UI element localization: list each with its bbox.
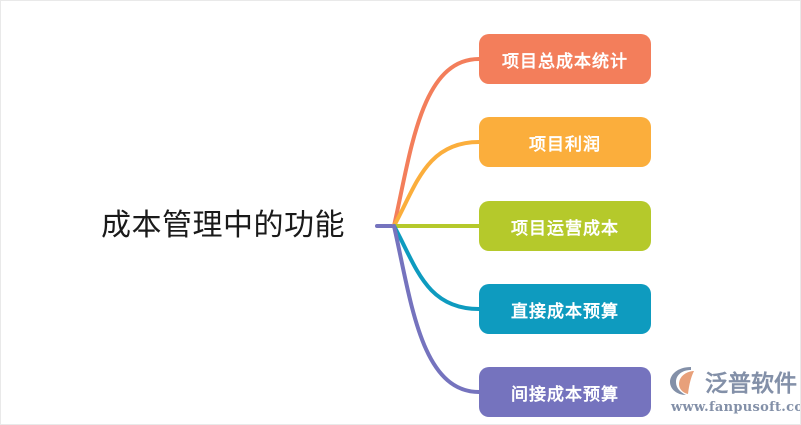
watermark-brand: 泛普软件	[705, 364, 797, 398]
branch-node-4-label: 直接成本预算	[511, 297, 619, 322]
watermark: 泛普软件 www.fanpusoft.com	[669, 363, 797, 421]
branch-node-5[interactable]: 间接成本预算	[479, 367, 651, 417]
fanpusoft-logo-icon	[669, 365, 703, 397]
root-node-label: 成本管理中的功能	[101, 203, 381, 249]
branch-node-5-label: 间接成本预算	[511, 380, 619, 405]
branch-node-1[interactable]: 项目总成本统计	[479, 34, 651, 84]
branch-node-4[interactable]: 直接成本预算	[479, 284, 651, 334]
watermark-url: www.fanpusoft.com	[671, 400, 797, 415]
branch-line-4	[394, 226, 479, 309]
branch-node-2-label: 项目利润	[529, 130, 601, 155]
branch-node-2[interactable]: 项目利润	[479, 117, 651, 167]
branch-node-1-label: 项目总成本统计	[502, 47, 628, 72]
branch-node-3-label: 项目运营成本	[511, 214, 619, 239]
branch-line-2	[394, 142, 479, 226]
branch-node-3[interactable]: 项目运营成本	[479, 201, 651, 251]
mindmap-canvas: 成本管理中的功能 项目总成本统计 项目利润 项目运营成本 直接成本预算 间接成本…	[0, 0, 801, 425]
